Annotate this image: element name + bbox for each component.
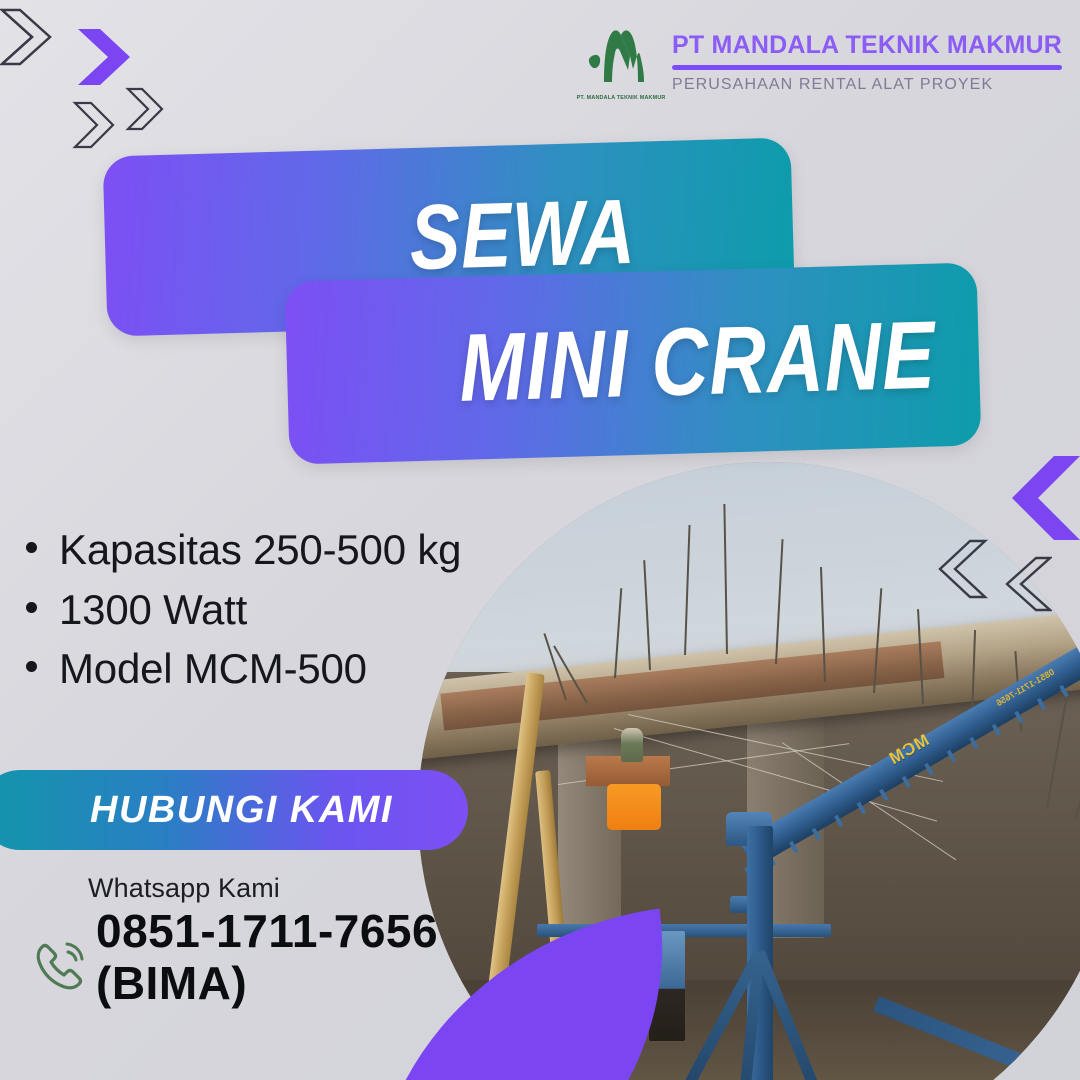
hubungi-kami-pill[interactable]: HUBUNGI KAMI [0, 770, 468, 850]
operator-figure [621, 728, 643, 762]
feature-text: 1300 Watt [59, 580, 247, 640]
whatsapp-row[interactable]: 0851-1711-7656 (BIMA) [28, 906, 438, 1009]
brand-tagline: PERUSAHAAN RENTAL ALAT PROYEK [672, 76, 1062, 94]
logo-caption: PT. MANDALA TEKNIK MAKMUR [577, 96, 666, 101]
poster-canvas: MCM 0851-1711-7656 [0, 0, 1080, 1080]
feature-text: Model MCM-500 [59, 639, 367, 699]
list-item: 1300 Watt [26, 580, 461, 640]
whatsapp-label: Whatsapp Kami [88, 872, 438, 904]
chevron-right-outline-1 [0, 6, 58, 68]
chevron-right-outline-2 [72, 100, 122, 150]
chevron-left-outline-2 [996, 555, 1052, 613]
brand-text-block: PT MANDALA TEKNIK MAKMUR PERUSAHAAN RENT… [672, 32, 1062, 93]
whatsapp-number: 0851-1711-7656 [96, 906, 438, 958]
whatsapp-contact-person: (BIMA) [96, 958, 438, 1010]
list-item: Model MCM-500 [26, 639, 461, 699]
chevron-right-outline-3 [125, 86, 171, 132]
bullet-dot-icon [26, 661, 37, 672]
feature-text: Kapasitas 250-500 kg [59, 520, 461, 580]
title-line1: SEWA [408, 186, 636, 284]
chevron-left-outline-1 [928, 538, 988, 600]
chevron-right-solid-purple [75, 26, 133, 88]
bullet-dot-icon [26, 542, 37, 553]
chevron-left-solid-purple [996, 452, 1080, 544]
phone-call-icon [28, 936, 88, 996]
mandala-m-logo-icon: PT. MANDALA TEKNIK MAKMUR [584, 26, 658, 100]
list-item: Kapasitas 250-500 kg [26, 520, 461, 580]
brand-underline [672, 65, 1062, 70]
crane-motor-housing [607, 784, 661, 830]
contact-block: Whatsapp Kami 0851-1711-7656 (BIMA) [28, 872, 438, 1009]
hubungi-kami-label: HUBUNGI KAMI [90, 791, 393, 829]
title-line2: MINI CRANE [458, 307, 937, 416]
bullet-dot-icon [26, 602, 37, 613]
feature-list: Kapasitas 250-500 kg 1300 Watt Model MCM… [26, 520, 461, 699]
brand-header: PT. MANDALA TEKNIK MAKMUR PT MANDALA TEK… [584, 26, 1062, 100]
brand-name: PT MANDALA TEKNIK MAKMUR [672, 32, 1062, 60]
title-banner-line2: MINI CRANE [285, 262, 982, 464]
